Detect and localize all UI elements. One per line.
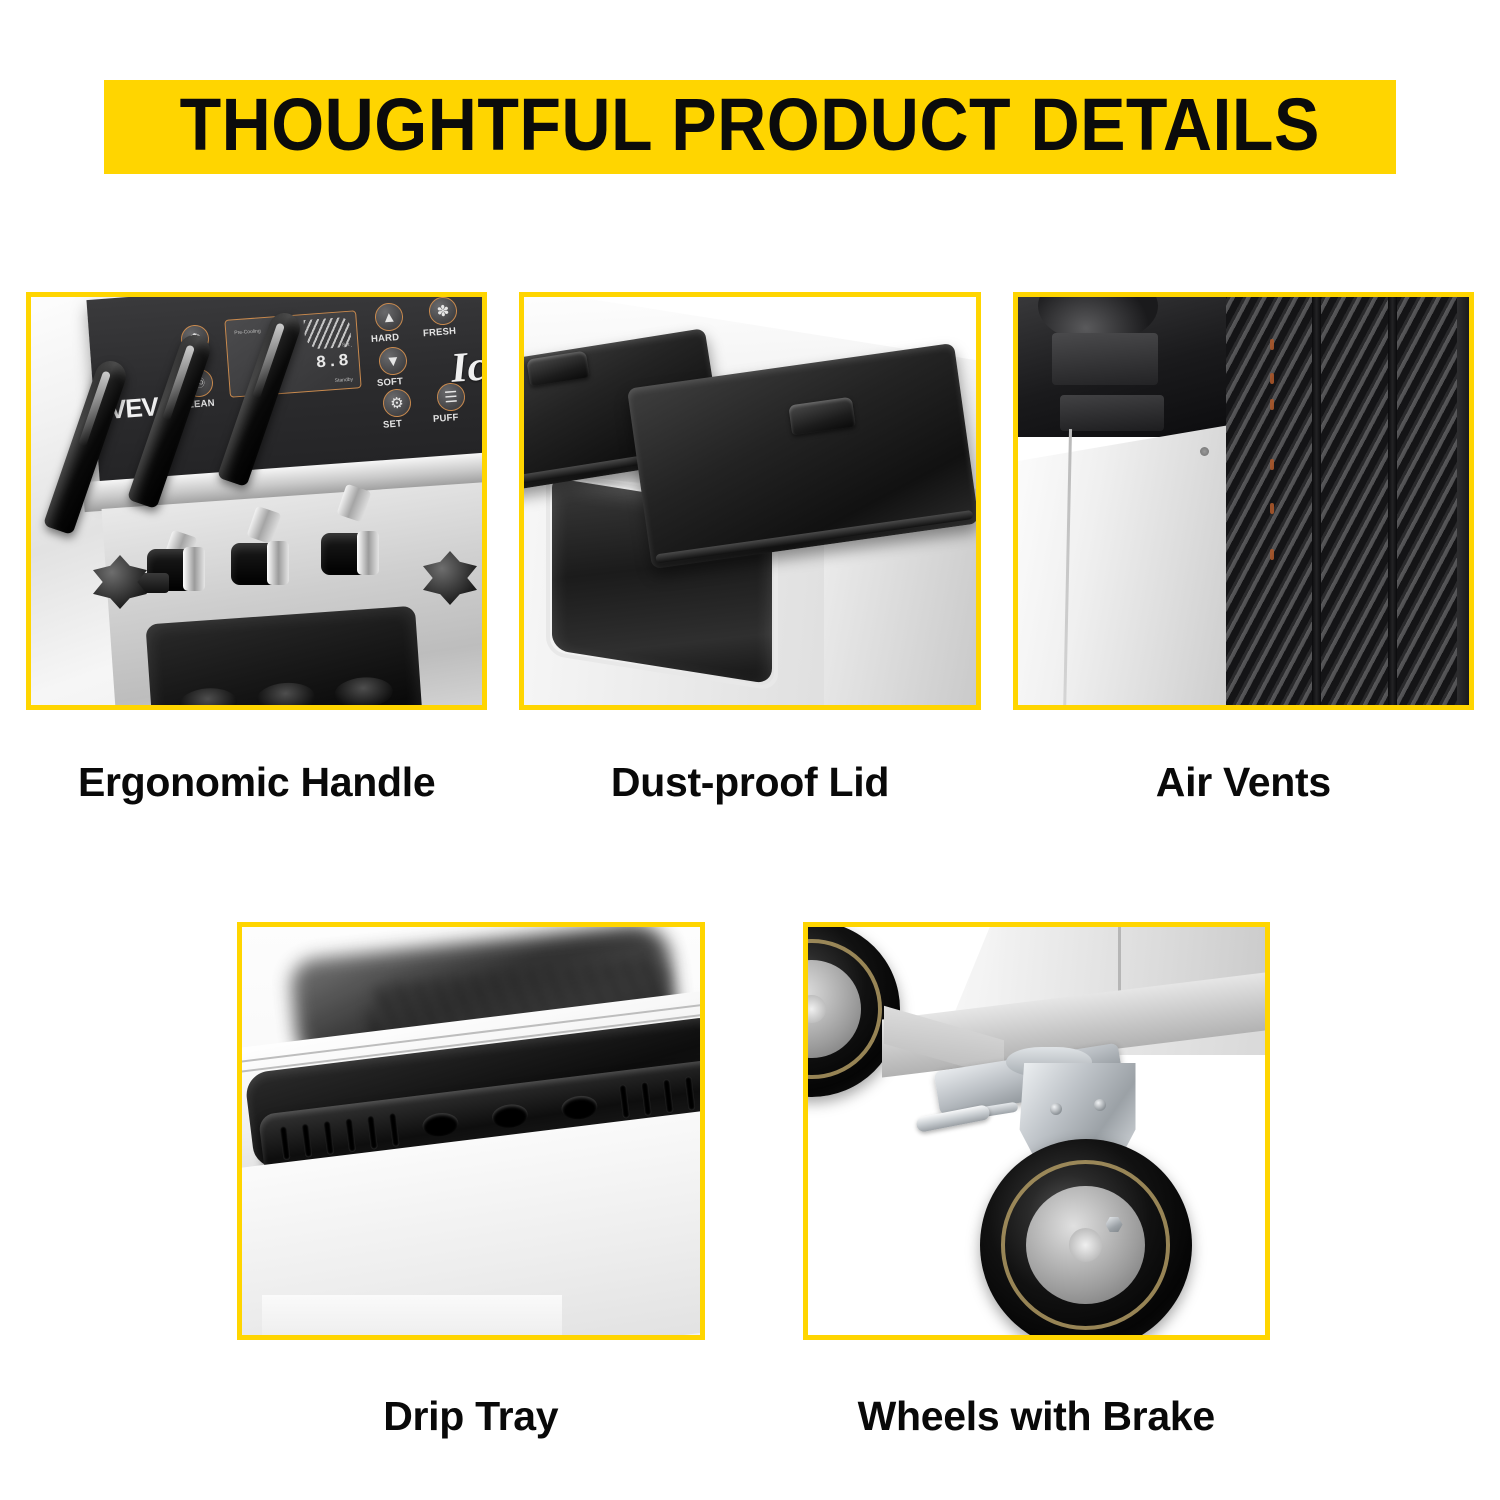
grate-slot-6 [389, 1112, 400, 1147]
lcd-digits: 8.8 [315, 352, 350, 373]
title-banner: THOUGHTFUL PRODUCT DETAILS [104, 80, 1395, 174]
feature-label-drip-tray: Drip Tray [237, 1392, 705, 1440]
button-set[interactable]: ⚙ [382, 388, 412, 418]
photo-ergonomic-handle: Pre-Cooling Set Standby 8.8 ❆ AUTO ♾ CLE… [31, 297, 482, 705]
title-banner-wrapper: THOUGHTFUL PRODUCT DETAILS [0, 80, 1500, 174]
grille-divider-1 [1312, 297, 1321, 705]
tap-ring-1 [183, 547, 205, 591]
feature-item-wheels-with-brake: Wheels with Brake [803, 922, 1271, 1440]
grille-divider-2 [1388, 297, 1397, 705]
lcd-tag-standby: Standby [335, 377, 354, 384]
feature-row-bottom: Drip Tray [237, 922, 1270, 1440]
pan-recess-3 [334, 676, 394, 705]
grate-slot-9 [663, 1079, 674, 1114]
button-soft[interactable]: ▼ [378, 346, 408, 376]
button-label-puff: PUFF [433, 412, 459, 425]
feature-card-wheels-with-brake[interactable] [803, 922, 1271, 1340]
cabinet-side-panel [1018, 425, 1230, 705]
asterisk-icon: ✽ [429, 297, 457, 325]
grate-slot-7 [619, 1084, 630, 1119]
grate-slot-10 [684, 1076, 695, 1111]
caster-wheel-front [980, 1139, 1192, 1335]
grille-right-edge [1457, 297, 1469, 705]
vent-accent-6 [1270, 549, 1274, 560]
vent-accent-3 [1270, 399, 1274, 410]
feature-label-air-vents: Air Vents [1013, 758, 1474, 806]
photo-wheels-with-brake [808, 927, 1266, 1335]
photo-dust-proof-lid [524, 297, 975, 705]
page-title: THOUGHTFUL PRODUCT DETAILS [180, 87, 1320, 163]
feature-label-ergonomic-handle: Ergonomic Handle [26, 758, 487, 806]
feature-card-ergonomic-handle[interactable]: Pre-Cooling Set Standby 8.8 ❆ AUTO ♾ CLE… [26, 292, 487, 710]
feature-row-top: Pre-Cooling Set Standby 8.8 ❆ AUTO ♾ CLE… [26, 292, 1474, 806]
tap-ring-2 [267, 541, 289, 585]
button-label-soft: SOFT [377, 376, 404, 389]
photo-air-vents [1018, 297, 1469, 705]
black-panel-lower [1060, 395, 1164, 431]
caster-rivet-2 [1094, 1099, 1106, 1111]
pan-recess-1 [178, 686, 238, 705]
grate-hole-1 [421, 1111, 460, 1138]
air-vent-grille [1226, 297, 1469, 705]
grate-hole-3 [560, 1094, 599, 1121]
brand-mark-ice: Ice [449, 341, 482, 393]
lower-drip-pan [145, 606, 422, 705]
pan-recess-2 [256, 681, 316, 705]
grate-slot-5 [367, 1115, 378, 1150]
feature-card-air-vents[interactable] [1013, 292, 1474, 710]
button-label-set: SET [383, 418, 403, 430]
grate-slot-4 [345, 1118, 356, 1153]
cabinet-base [262, 1295, 562, 1335]
vent-accent-1 [1270, 339, 1274, 350]
grate-slot-2 [301, 1123, 312, 1158]
feature-item-drip-tray: Drip Tray [237, 922, 705, 1440]
grate-hole-2 [491, 1102, 530, 1129]
button-label-hard: HARD [371, 332, 400, 345]
feature-item-ergonomic-handle: Pre-Cooling Set Standby 8.8 ❆ AUTO ♾ CLE… [26, 292, 487, 806]
vent-slats [1226, 297, 1469, 705]
grate-slot-8 [641, 1082, 652, 1117]
feature-card-drip-tray[interactable] [237, 922, 705, 1340]
gear-icon: ⚙ [383, 389, 411, 417]
button-hard[interactable]: ▲ [374, 302, 404, 332]
lcd-tag-set: Set [342, 342, 350, 349]
feature-item-air-vents: Air Vents [1013, 292, 1474, 806]
down-arrow-icon: ▼ [379, 347, 407, 375]
black-panel-upper [1052, 333, 1158, 385]
vent-accent-5 [1270, 503, 1274, 514]
panel-screw [1200, 447, 1209, 456]
lcd-tag-precooling: Pre-Cooling [234, 328, 261, 336]
grate-slot-1 [279, 1126, 290, 1161]
feature-label-dust-proof-lid: Dust-proof Lid [519, 758, 980, 806]
vent-accent-4 [1270, 459, 1274, 470]
tap-ring-3 [357, 531, 379, 575]
button-fresh[interactable]: ✽ [428, 297, 458, 326]
vent-accent-2 [1270, 373, 1274, 384]
photo-drip-tray [242, 927, 700, 1335]
caster-rivet-1 [1050, 1103, 1062, 1115]
grate-slot-3 [323, 1121, 334, 1156]
feature-card-dust-proof-lid[interactable] [519, 292, 980, 710]
up-arrow-icon: ▲ [375, 303, 403, 331]
wheel-hub-cap [1069, 1228, 1103, 1262]
feature-label-wheels-with-brake: Wheels with Brake [803, 1392, 1271, 1440]
feature-item-dust-proof-lid: Dust-proof Lid [519, 292, 980, 806]
